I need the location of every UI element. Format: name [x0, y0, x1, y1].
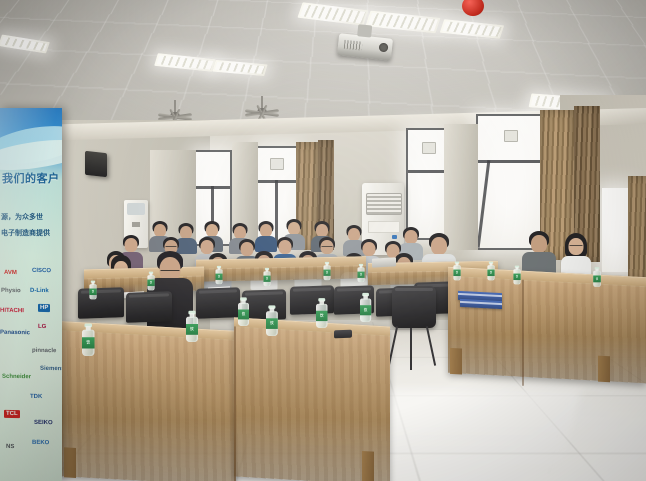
bottle-label-text: 饮 — [186, 324, 198, 335]
audience-person — [256, 222, 276, 252]
laptop — [372, 257, 396, 267]
water-bottle: 饮 — [487, 262, 494, 281]
window-curtain — [628, 176, 646, 286]
water-bottle: 饮 — [216, 266, 223, 284]
projector-mount — [357, 24, 372, 37]
banner-logo-grid: AVM CISCO Physio D-Link HP HITACHI LG Pa… — [0, 268, 62, 481]
mobile-phone — [334, 330, 352, 339]
conference-room-photo: 饮 饮 饮 饮 饮 饮 饮 饮 饮 饮 饮 饮 — [0, 0, 646, 481]
logo-tdk: TDK — [30, 394, 42, 400]
bottle-label-text: 饮 — [324, 270, 331, 276]
logo-pinnacle: pinnacle — [32, 348, 56, 354]
window — [602, 188, 630, 272]
projector-vent — [344, 40, 363, 51]
logo-dlink: D-Link — [30, 288, 49, 294]
logo-hp: HP — [38, 304, 50, 312]
chair — [196, 287, 240, 319]
bottle-label-text: 饮 — [216, 274, 223, 280]
logo-schneider: Schneider — [2, 374, 31, 381]
logo-tcl: TCL — [4, 410, 20, 418]
logo-ns: NS — [6, 444, 14, 450]
logo-hitachi: HITACHI — [0, 308, 24, 314]
chair — [126, 291, 172, 323]
bottle-label-text: 饮 — [593, 275, 601, 282]
water-bottle: 饮 — [147, 272, 154, 291]
water-bottle: 饮 — [238, 297, 249, 326]
logo-cisco: CISCO — [32, 268, 51, 274]
bottle-label-text: 饮 — [147, 280, 154, 286]
bottle-label-text: 饮 — [513, 274, 520, 280]
water-bottle: 饮 — [593, 267, 601, 287]
water-bottle: 饮 — [316, 298, 328, 328]
water-bottle: 饮 — [82, 324, 95, 357]
water-bottle: 饮 — [453, 262, 460, 281]
water-bottle: 饮 — [513, 266, 520, 285]
banner-line-2: 电子制造商提供 — [1, 228, 62, 238]
bottle-label-text: 饮 — [238, 310, 249, 320]
wall-speaker — [85, 151, 107, 177]
water-bottle: 饮 — [324, 262, 331, 280]
desk-right-long — [448, 267, 646, 383]
promotional-banner: 我们的客户 源，为众多世 电子制造商提供 AVM CISCO Physio D-… — [0, 108, 62, 481]
ac-indicator — [392, 235, 397, 239]
banner-heading: 我们的客户 — [2, 170, 62, 186]
water-bottle: 饮 — [264, 268, 271, 286]
logo-siemens: Siemens — [40, 366, 62, 372]
bottle-label-text: 饮 — [453, 270, 460, 276]
ac-grille — [366, 193, 402, 215]
bottle-label-text: 饮 — [487, 270, 494, 276]
window-frame — [476, 114, 542, 250]
bottle-label-text: 饮 — [266, 318, 278, 329]
logo-seiko: SEIKO — [34, 420, 53, 426]
logo-beko: BEKO — [32, 440, 49, 446]
bottle-label-text: 饮 — [316, 311, 328, 321]
office-chair — [392, 286, 436, 328]
window-frame — [406, 128, 446, 240]
chair — [78, 287, 124, 319]
logo-physio: Physio — [1, 288, 21, 294]
water-bottle: 饮 — [266, 305, 278, 336]
ac-panel — [368, 221, 400, 233]
projector-lens — [379, 42, 389, 52]
chair-leg — [410, 328, 412, 370]
bottle-label-text: 饮 — [82, 337, 95, 348]
logo-lg: LG — [38, 324, 46, 330]
logo-avm: AVM — [4, 270, 17, 276]
bottle-label-text: 饮 — [89, 289, 96, 295]
wall-pillar — [444, 124, 478, 250]
bottle-label-text: 饮 — [358, 272, 365, 278]
desk-front-right — [234, 317, 390, 481]
bottle-label-text: 饮 — [264, 276, 271, 282]
logo-panasonic: Panasonic — [0, 330, 30, 337]
bottle-label-text: 饮 — [360, 305, 371, 315]
water-bottle: 饮 — [358, 264, 365, 282]
water-bottle: 饮 — [360, 293, 371, 322]
water-bottle: 饮 — [89, 281, 96, 300]
water-bottle: 饮 — [186, 311, 198, 342]
banner-line-1: 源，为众多世 — [1, 212, 62, 222]
